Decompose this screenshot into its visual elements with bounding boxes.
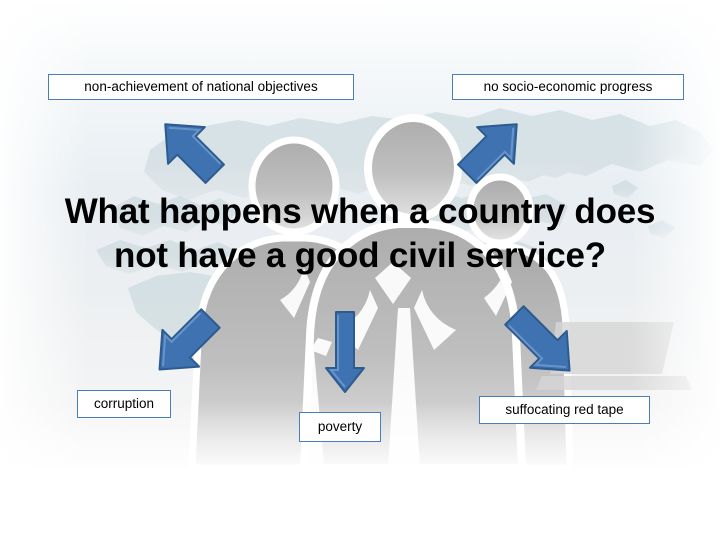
arrow-down-icon (322, 310, 368, 394)
label-text-red-tape: suffocating red tape (505, 403, 623, 417)
main-question-text: What happens when a country does not hav… (40, 190, 680, 278)
arrow-up-left-icon (148, 112, 232, 186)
arrow-down-right-icon (500, 300, 584, 386)
label-text-no-progress: no socio-economic progress (484, 80, 653, 94)
label-text-non-achievement: non-achievement of national objectives (84, 80, 317, 94)
label-text-poverty: poverty (318, 420, 362, 434)
label-box-no-socio-economic-progress[interactable]: no socio-economic progress (452, 74, 684, 100)
label-box-corruption[interactable]: corruption (77, 390, 171, 418)
label-box-suffocating-red-tape[interactable]: suffocating red tape (479, 396, 650, 424)
label-text-corruption: corruption (94, 397, 154, 411)
label-box-poverty[interactable]: poverty (299, 412, 381, 442)
slide-canvas: What happens when a country does not hav… (0, 0, 720, 540)
arrow-up-right-icon (450, 112, 534, 186)
label-box-non-achievement[interactable]: non-achievement of national objectives (48, 74, 354, 100)
question-line-1: What happens when a country does (40, 190, 680, 234)
arrow-down-left-icon (143, 304, 227, 384)
question-line-2: not have a good civil service? (40, 234, 680, 278)
